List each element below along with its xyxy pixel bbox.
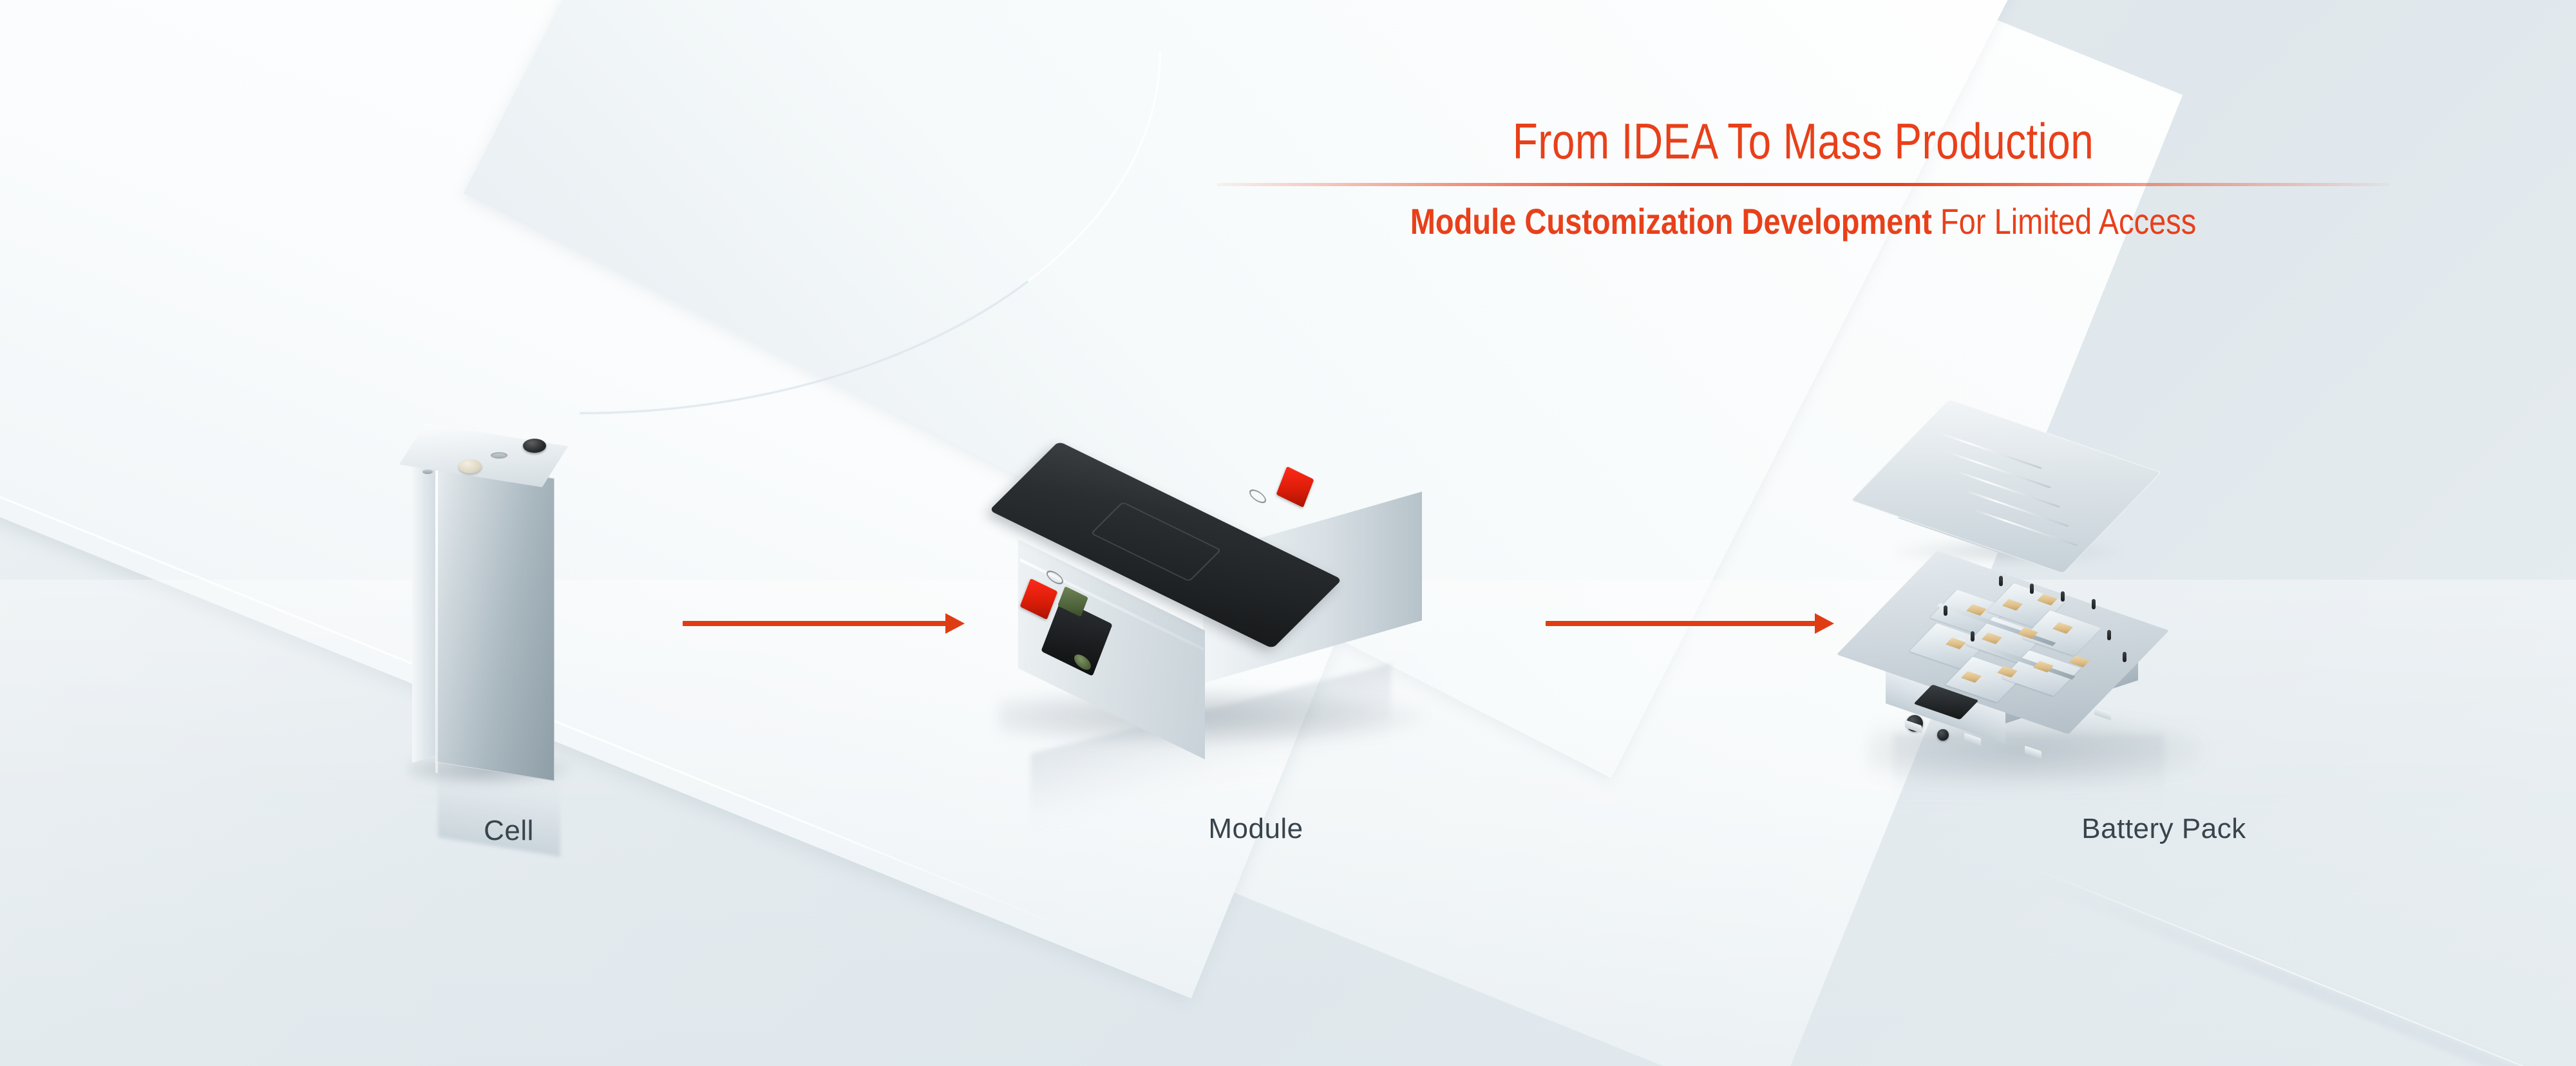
arrow-cell-to-module [683, 611, 966, 636]
caption-cell: Cell [412, 815, 605, 847]
subtitle-rest: For Limited Access [1932, 201, 2196, 242]
hero-banner: From IDEA To Mass Production Module Cust… [0, 0, 2576, 1066]
pack-reflection [1893, 734, 2164, 812]
module-terminal-red-rear [1276, 466, 1314, 508]
pack-pin [1999, 576, 2003, 586]
pack-pin [1971, 631, 1975, 642]
pack-pin [2123, 652, 2126, 662]
module-screw-rear [1249, 487, 1266, 506]
pack-pin [2107, 630, 2111, 640]
caption-module: Module [1056, 813, 1455, 845]
stage-cell [412, 419, 605, 805]
headline-divider [1217, 183, 2389, 186]
headline-subtitle: Module Customization Development For Lim… [1311, 203, 2296, 241]
caption-battery-pack: Battery Pack [1971, 813, 2357, 845]
stage-battery-pack [1868, 412, 2447, 799]
pack-pin [2092, 599, 2096, 609]
cell-mount-hole [422, 470, 433, 474]
cell-front-face [435, 459, 554, 781]
cell-side-face [412, 452, 438, 763]
arrow-shaft [683, 621, 947, 626]
pack-pin [2030, 584, 2034, 594]
background-shade-bottom-right [2032, 871, 2576, 1066]
arrow-shaft [1546, 621, 1816, 626]
subtitle-emphasis: Module Customization Development [1410, 201, 1932, 242]
arrow-head [945, 613, 965, 634]
arrow-module-to-pack [1546, 611, 1835, 636]
cell-terminal-positive [459, 459, 482, 473]
background-hairline-bottom-right [2022, 863, 2576, 1066]
stage-module [992, 451, 1520, 792]
cell-terminal-negative [523, 439, 546, 453]
page-title: From IDEA To Mass Production [1323, 116, 2284, 166]
cell-vent [491, 452, 507, 459]
headline-block: From IDEA To Mass Production Module Cust… [1217, 116, 2389, 241]
background-crease-curve [580, 52, 1161, 414]
cell-edge-highlight [435, 470, 438, 774]
arrow-head [1815, 613, 1834, 634]
pack-pin [1944, 605, 1947, 616]
pack-pin [2061, 591, 2065, 602]
pack-lv-connector [1937, 729, 1949, 741]
